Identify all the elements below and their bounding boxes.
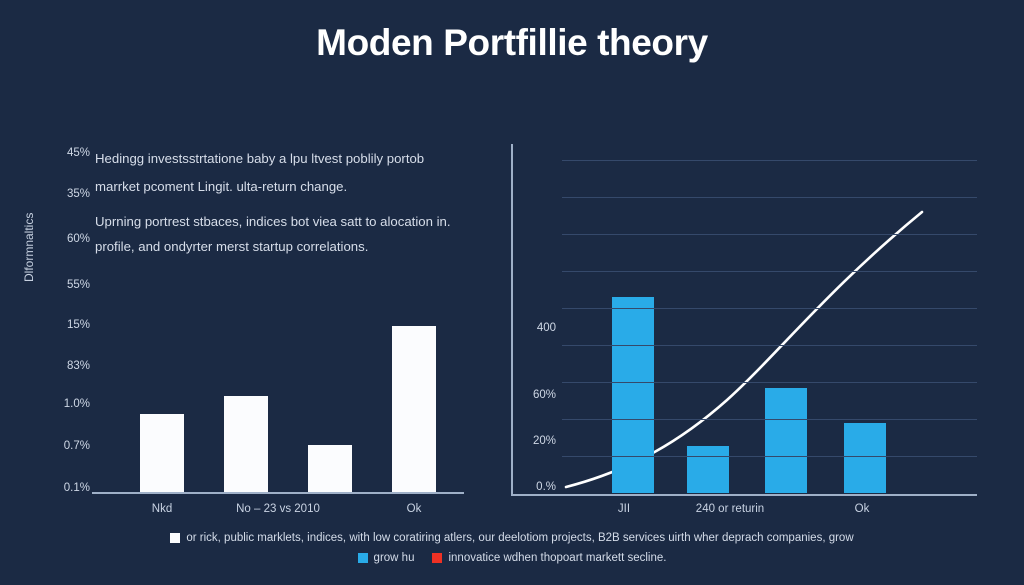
left-chart-y-tick: 0.7% <box>50 440 90 452</box>
left-chart-y-tick: 0.1% <box>50 482 90 494</box>
right-chart-x-tick: Ok <box>802 503 922 515</box>
left-chart-x-tick: Ok <box>354 503 474 515</box>
left-chart-bar <box>140 414 184 493</box>
right-chart-gridline <box>562 419 977 420</box>
right-chart-y-tick: 20% <box>512 435 556 447</box>
left-chart-x-tick: Nkd <box>102 503 222 515</box>
legend-row-1: or rick, public marklets, indices, with … <box>0 528 1024 548</box>
right-chart-gridline <box>562 234 977 235</box>
left-chart-bar <box>392 326 436 493</box>
legend-swatch-white <box>170 533 180 543</box>
left-chart-x-axis-line <box>92 492 464 494</box>
right-panel <box>500 132 994 522</box>
page-title: Moden Portfillie theory <box>0 22 1024 64</box>
legend-row-2: grow huinnovatice wdhen thopoart markett… <box>0 548 1024 568</box>
left-chart-y-tick: 45% <box>50 147 90 159</box>
left-chart-y-tick: 60% <box>50 233 90 245</box>
right-chart-gridline <box>562 382 977 383</box>
right-chart-gridline <box>562 197 977 198</box>
right-chart-bar <box>687 446 729 493</box>
right-chart-gridline <box>562 345 977 346</box>
left-chart-y-tick: 1.0% <box>50 398 90 410</box>
right-chart-gridline <box>562 271 977 272</box>
slide-canvas: Moden Portfillie theory Hedingg investss… <box>0 0 1024 585</box>
legend-item: grow hu <box>358 548 415 568</box>
legend-swatch <box>432 553 442 563</box>
legend-label-1: or rick, public marklets, indices, with … <box>186 528 853 548</box>
right-chart-gridline <box>562 160 977 161</box>
legend-label: innovatice wdhen thopoart markett seclin… <box>448 548 666 568</box>
legend-item: innovatice wdhen thopoart markett seclin… <box>432 548 666 568</box>
right-chart-gridline <box>562 308 977 309</box>
right-chart-bar <box>844 423 886 493</box>
left-chart-y-tick: 15% <box>50 319 90 331</box>
right-chart-y-tick: 400 <box>512 322 556 334</box>
left-chart-y-tick: 83% <box>50 360 90 372</box>
left-chart-bar <box>308 445 352 493</box>
left-panel: Hedingg investsstrtatione baby a lpu ltv… <box>30 132 480 522</box>
right-chart-x-axis-line <box>511 494 977 496</box>
left-chart-y-axis-title: Dlformnaltics <box>22 213 36 282</box>
right-chart-x-tick: JII <box>564 503 684 515</box>
legend-label: grow hu <box>374 548 415 568</box>
left-chart-x-tick: No – 23 vs 2010 <box>218 503 338 515</box>
left-chart-y-tick: 35% <box>50 188 90 200</box>
right-chart-bar <box>765 388 807 493</box>
right-chart-y-tick: 0.% <box>512 481 556 493</box>
right-chart-bar <box>612 297 654 493</box>
left-chart-y-tick: 55% <box>50 279 90 291</box>
right-chart-y-tick: 60% <box>512 389 556 401</box>
left-chart-plot-area <box>92 150 464 493</box>
legend-swatch <box>358 553 368 563</box>
left-chart-bar <box>224 396 268 493</box>
right-chart-plot-area <box>562 150 977 493</box>
right-chart-x-tick: 240 or returin <box>670 503 790 515</box>
right-chart-gridline <box>562 456 977 457</box>
legend: or rick, public marklets, indices, with … <box>0 528 1024 568</box>
